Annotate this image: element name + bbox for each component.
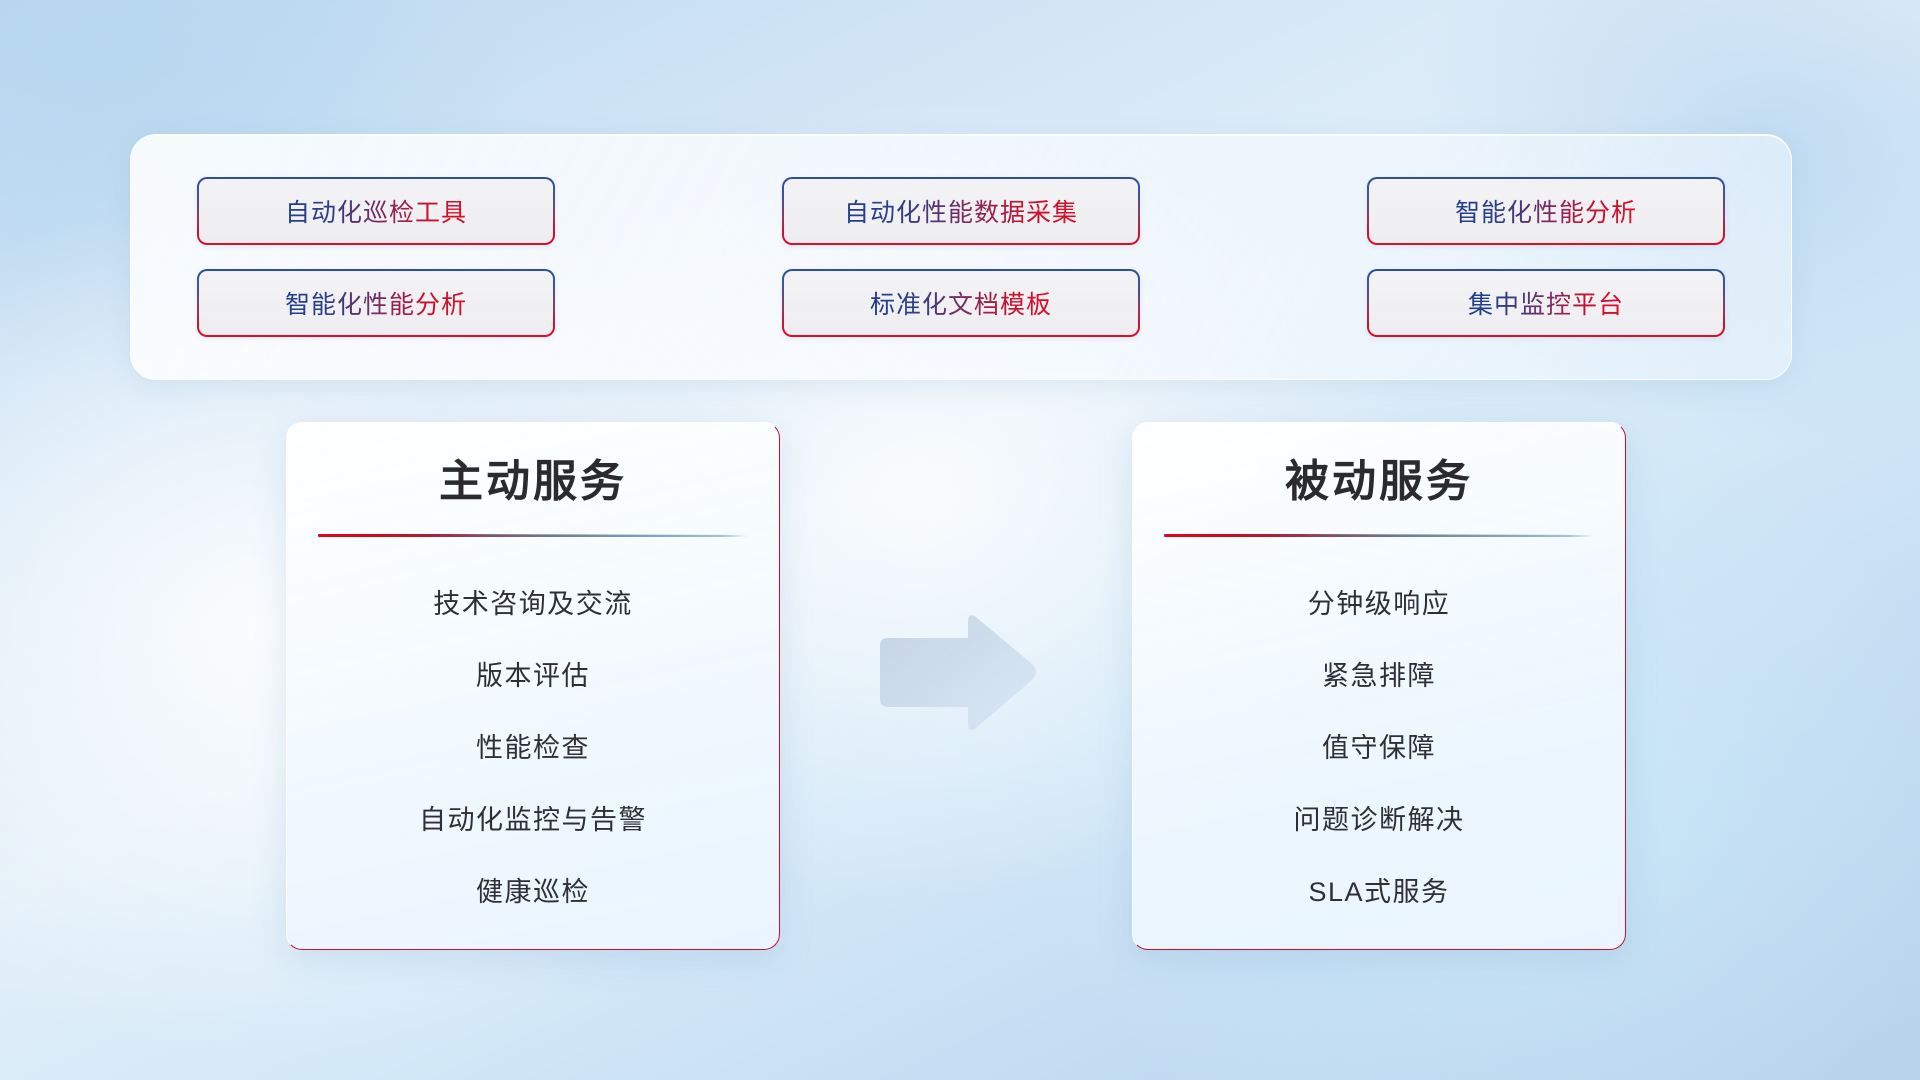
service-item[interactable]: 技术咨询及交流: [433, 565, 633, 637]
service-item[interactable]: 版本评估: [476, 637, 590, 709]
capabilities-panel: 自动化巡检工具 自动化性能数据采集 智能化性能分析 智能化性能分析 标准化文档模…: [130, 134, 1792, 380]
card-title: 被动服务: [1285, 457, 1473, 508]
service-item[interactable]: 问题诊断解决: [1294, 781, 1465, 853]
capability-chip[interactable]: 集中监控平台: [1367, 269, 1725, 337]
service-item[interactable]: 分钟级响应: [1308, 565, 1451, 637]
arrow-right-icon: [872, 612, 1040, 734]
service-item[interactable]: 健康巡检: [476, 853, 590, 925]
capability-chip[interactable]: 自动化巡检工具: [197, 177, 555, 245]
capability-chip[interactable]: 自动化性能数据采集: [782, 177, 1140, 245]
service-item[interactable]: 性能检查: [476, 709, 590, 781]
service-item-list: 分钟级响应 紧急排障 值守保障 问题诊断解决 SLA式服务: [1163, 565, 1595, 925]
capability-chip[interactable]: 智能化性能分析: [1367, 177, 1725, 245]
capability-chip[interactable]: 标准化文档模板: [782, 269, 1140, 337]
service-item[interactable]: 值守保障: [1322, 709, 1436, 781]
capability-row-1: 自动化巡检工具 自动化性能数据采集 智能化性能分析: [197, 177, 1725, 245]
capability-chip-label: 标准化文档模板: [870, 285, 1052, 321]
service-item-list: 技术咨询及交流 版本评估 性能检查 自动化监控与告警 健康巡检: [317, 565, 749, 925]
capability-row-2: 智能化性能分析 标准化文档模板 集中监控平台: [197, 269, 1725, 337]
capability-chip[interactable]: 智能化性能分析: [197, 269, 555, 337]
service-item[interactable]: 自动化监控与告警: [419, 781, 647, 853]
capability-chip-label: 集中监控平台: [1468, 285, 1624, 321]
capability-chip-label: 自动化性能数据采集: [844, 193, 1078, 229]
service-card-reactive: 被动服务 分钟级响应 紧急排障 值守保障 问题诊断解决 SLA式服务: [1132, 422, 1626, 950]
card-divider: [318, 534, 748, 537]
capability-chip-label: 智能化性能分析: [1455, 193, 1637, 229]
card-divider: [1164, 534, 1594, 537]
capability-chip-label: 自动化巡检工具: [285, 193, 467, 229]
slide-canvas: 自动化巡检工具 自动化性能数据采集 智能化性能分析 智能化性能分析 标准化文档模…: [0, 0, 1920, 1080]
capability-chip-label: 智能化性能分析: [285, 285, 467, 321]
card-title: 主动服务: [439, 457, 627, 508]
service-item[interactable]: 紧急排障: [1322, 637, 1436, 709]
service-card-proactive: 主动服务 技术咨询及交流 版本评估 性能检查 自动化监控与告警 健康巡检: [286, 422, 780, 950]
service-item[interactable]: SLA式服务: [1308, 853, 1449, 925]
